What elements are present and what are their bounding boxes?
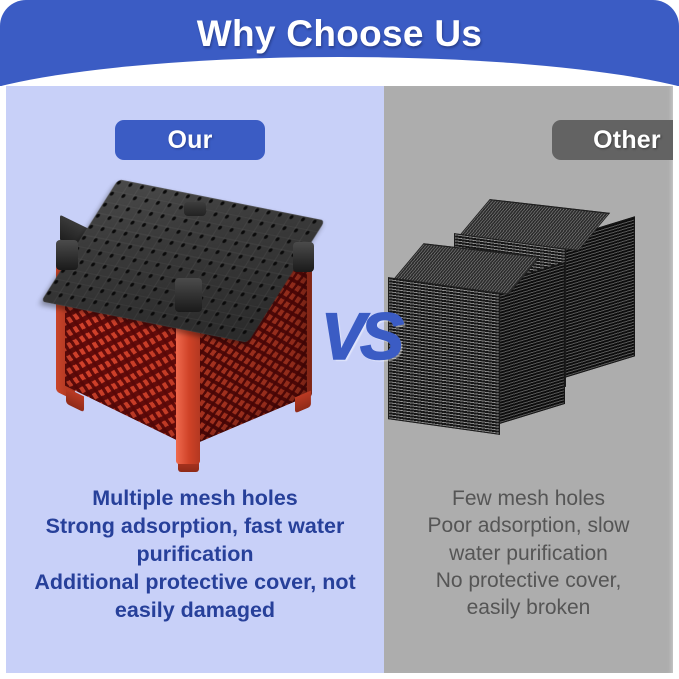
cube-corner-post-back (184, 202, 206, 216)
bullet-our-3: purification (20, 541, 370, 569)
bullet-our-2: Strong adsorption, fast water (20, 513, 370, 541)
page-title: Why Choose Us (0, 13, 679, 55)
cube-corner-post-center (175, 278, 202, 312)
product-image-our (52, 194, 342, 454)
cube-corner-post-left (56, 240, 78, 270)
bullet-our-1: Multiple mesh holes (20, 485, 370, 513)
badge-other: Other (552, 120, 673, 160)
product-image-other (394, 206, 664, 456)
bullet-other-1: Few mesh holes (394, 485, 663, 512)
bullet-other-4: No protective cover, (394, 567, 663, 594)
bullet-our-5: easily damaged (20, 597, 370, 625)
bullets-our: Multiple mesh holes Strong adsorption, f… (6, 485, 384, 625)
badge-other-label: Other (593, 126, 661, 155)
bullet-other-3: water purification (394, 540, 663, 567)
badge-our: Our (115, 120, 265, 160)
badge-our-label: Our (167, 126, 212, 155)
comparison-panels: Our (6, 86, 673, 673)
panel-our: Our (6, 86, 384, 673)
infographic-root: Why Choose Us Our (0, 0, 679, 679)
bullet-other-5: easily broken (394, 594, 663, 621)
bullets-other: Few mesh holes Poor adsorption, slow wat… (384, 485, 673, 621)
cube-corner-post-right (293, 242, 314, 272)
header-banner: Why Choose Us (0, 0, 679, 96)
bullet-our-4: Additional protective cover, not (20, 569, 370, 597)
panel-other: Other Few mesh holes Poor adsorption, sl… (384, 86, 673, 673)
red-filter-cube (52, 194, 342, 454)
bullet-other-2: Poor adsorption, slow (394, 512, 663, 539)
versus-badge: VS (312, 296, 408, 376)
